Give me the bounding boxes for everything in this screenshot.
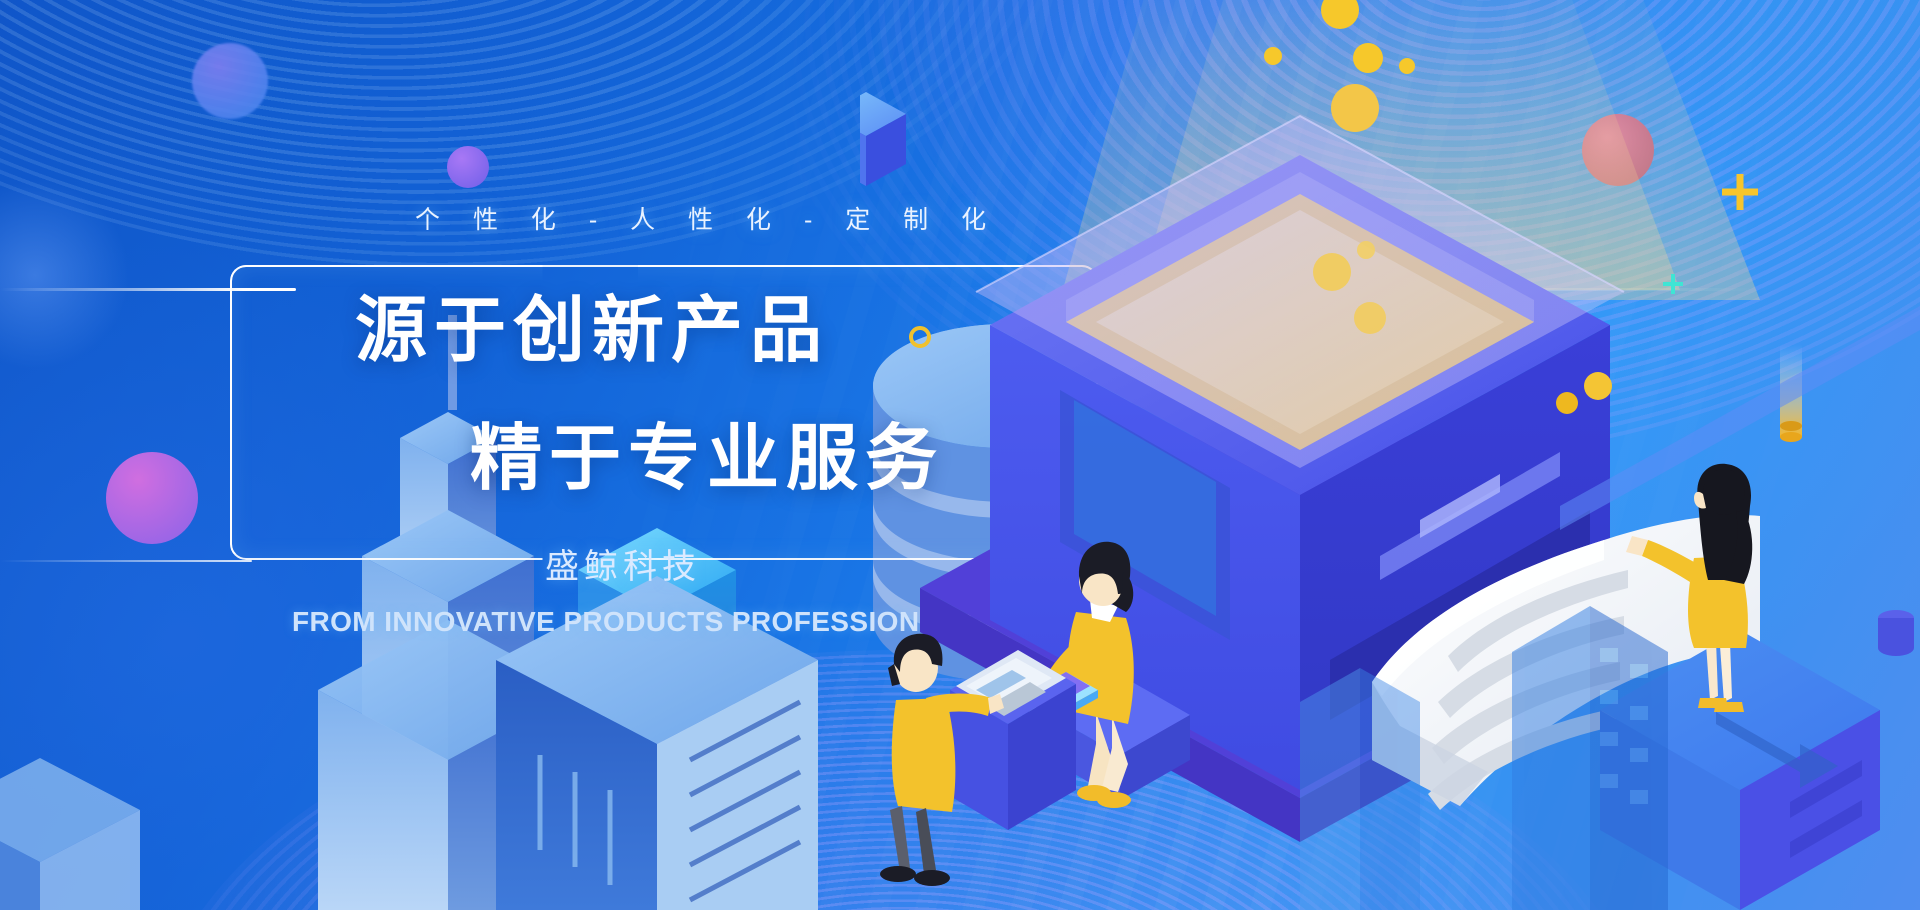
- company-name: 盛鲸科技: [545, 539, 701, 588]
- man-at-kiosk-terminal: [880, 634, 1076, 886]
- isometric-scene: [860, 0, 1920, 910]
- accent-bar-bottom-left: [0, 560, 252, 562]
- headline-line-1: 源于创新产品: [355, 294, 829, 366]
- small-cylinder-right: [1878, 610, 1914, 656]
- hero-banner: 个 性 化 - 人 性 化 - 定 制 化 源于创新产品 精于专业服务 盛鲸科技…: [0, 0, 1920, 910]
- building-low-rise: [0, 758, 140, 910]
- floating-cube-icon: [860, 92, 906, 186]
- outline-circle-icon: [911, 328, 929, 346]
- yellow-plus-icon-right: [1722, 174, 1758, 210]
